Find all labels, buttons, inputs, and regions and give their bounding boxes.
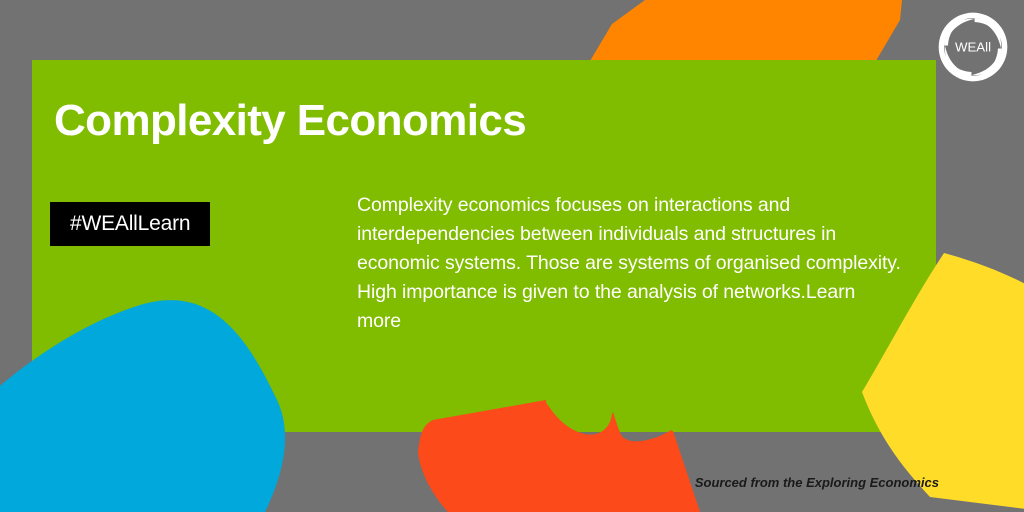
source-credit: Sourced from the Exploring Economics — [695, 475, 939, 490]
weall-swirl-circle-logo-icon: WEAll — [934, 8, 1012, 86]
hashtag-badge: #WEAllLearn — [50, 202, 210, 246]
weall-wordmark: WEAll — [955, 40, 991, 55]
page-title: Complexity Economics — [54, 98, 526, 144]
poster-canvas: Complexity Economics #WEAllLearn Complex… — [0, 0, 1024, 512]
body-copy: Complexity economics focuses on interact… — [357, 191, 902, 336]
content-panel: Complexity Economics #WEAllLearn Complex… — [32, 60, 936, 432]
